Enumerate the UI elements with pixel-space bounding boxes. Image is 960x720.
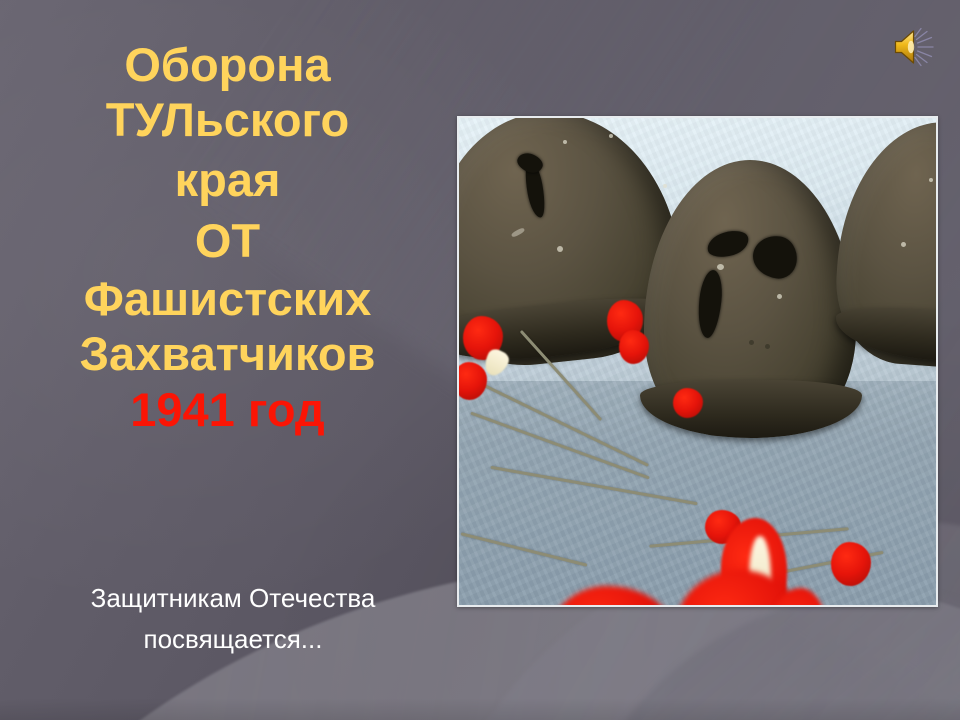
title-line-2: ТУЛьского [0,93,455,148]
helmet-speck [557,246,563,252]
title-line-1: Оборона [0,38,455,93]
helmets-photo[interactable] [457,116,938,607]
helmet-speck [929,178,933,182]
presentation-slide: Оборона ТУЛьского края ОТ Фашистских Зах… [0,0,960,720]
helmet-speck [749,340,754,345]
subtitle-line-1: Защитникам Отечества [28,578,438,619]
helmet-speck [901,242,906,247]
slide-title: Оборона ТУЛьского края ОТ Фашистских Зах… [0,38,455,438]
title-line-5: Фашистских [0,272,455,327]
helmet-speck [563,140,567,144]
helmets-photo-canvas [459,118,936,605]
title-line-4: ОТ [0,214,455,269]
title-line-6: Захватчиков [0,327,455,382]
slide-subtitle: Защитникам Отечества посвящается... [28,578,438,660]
title-line-3: края [0,153,455,208]
subtitle-line-2: посвящается... [28,619,438,660]
sound-speaker-icon[interactable] [892,26,938,68]
helmet-speck [765,344,770,349]
helmet-speck [777,294,782,299]
helmet-speck [717,264,724,270]
helmet-speck [663,184,667,188]
title-year-line: 1941 год [0,383,455,438]
background-bottom-strip [0,698,960,720]
helmet-speck [609,134,613,138]
